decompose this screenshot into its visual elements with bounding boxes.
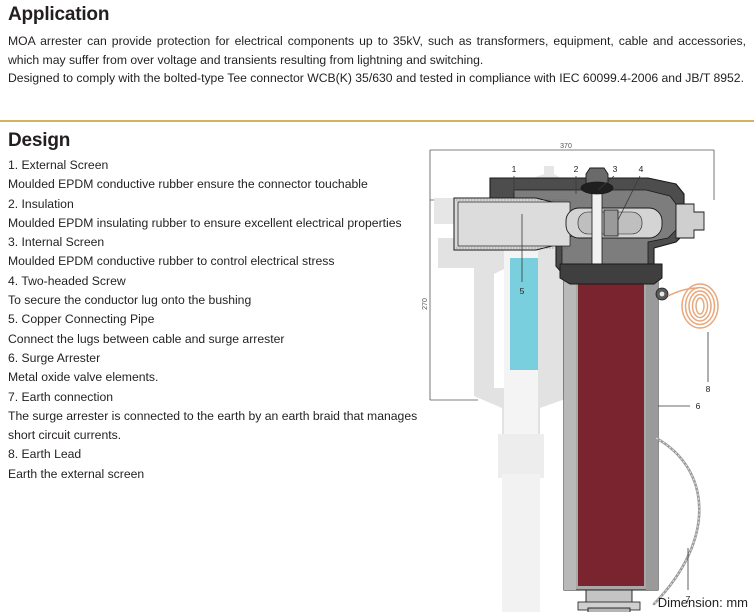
- surge-arrester-element: [578, 272, 644, 586]
- design-item-desc: The surge arrester is connected to the e…: [8, 407, 420, 446]
- dimension-width-label: 370: [560, 143, 572, 150]
- gold-rule: [0, 120, 754, 122]
- callout-5: 5: [520, 286, 525, 296]
- design-item-term: 2. Insulation: [8, 195, 420, 214]
- application-paragraph-2: Designed to comply with the bolted-type …: [8, 69, 746, 88]
- application-section: Application MOA arrester can provide pro…: [8, 4, 746, 88]
- dimension-height-label: 270: [422, 298, 429, 310]
- design-item-term: 8. Earth Lead: [8, 445, 420, 464]
- application-paragraph-1: MOA arrester can provide protection for …: [8, 32, 746, 69]
- list-item: 2. Insulation Moulded EPDM insulating ru…: [8, 195, 420, 234]
- section-divider: [0, 120, 754, 122]
- design-heading: Design: [8, 130, 420, 152]
- design-item-term: 4. Two-headed Screw: [8, 272, 420, 291]
- list-item: 8. Earth Lead Earth the external screen: [8, 445, 420, 484]
- earth-lead-coil: [682, 284, 718, 328]
- list-item: 4. Two-headed Screw To secure the conduc…: [8, 272, 420, 311]
- callout-4: 4: [639, 164, 644, 174]
- design-item-term: 6. Surge Arrester: [8, 349, 420, 368]
- callout-6: 6: [696, 401, 701, 411]
- design-item-desc: Metal oxide valve elements.: [8, 368, 420, 387]
- list-item: 3. Internal Screen Moulded EPDM conducti…: [8, 233, 420, 272]
- callout-3: 3: [613, 164, 618, 174]
- design-item-term: 1. External Screen: [8, 156, 420, 175]
- design-item-desc: To secure the conductor lug onto the bus…: [8, 291, 420, 310]
- design-item-desc: Earth the external screen: [8, 465, 420, 484]
- design-item-term: 5. Copper Connecting Pipe: [8, 310, 420, 329]
- list-item: 5. Copper Connecting Pipe Connect the lu…: [8, 310, 420, 349]
- design-item-desc: Moulded EPDM conductive rubber ensure th…: [8, 175, 420, 194]
- internal-screen-seal: [581, 182, 613, 194]
- design-list: 1. External Screen Moulded EPDM conducti…: [8, 156, 420, 484]
- cable-conductor-cyan: [510, 258, 538, 370]
- design-item-desc: Connect the lugs between cable and surge…: [8, 330, 420, 349]
- design-item-desc: Moulded EPDM conductive rubber to contro…: [8, 252, 420, 271]
- design-item-term: 3. Internal Screen: [8, 233, 420, 252]
- two-headed-screw: [592, 186, 602, 274]
- design-item-desc: Moulded EPDM insulating rubber to ensure…: [8, 214, 420, 233]
- technical-drawing: 370 270: [418, 138, 754, 612]
- callout-1: 1: [512, 164, 517, 174]
- application-heading: Application: [8, 4, 746, 26]
- design-item-term: 7. Earth connection: [8, 388, 420, 407]
- list-item: 1. External Screen Moulded EPDM conducti…: [8, 156, 420, 195]
- copper-connecting-pipe: [458, 202, 570, 246]
- arrester-cross-section-diagram: 370 270: [418, 138, 754, 612]
- earth-bolt-assembly: [578, 590, 640, 612]
- design-section: Design 1. External Screen Moulded EPDM c…: [8, 130, 420, 484]
- callout-2: 2: [574, 164, 579, 174]
- dimension-caption: Dimension: mm: [658, 595, 748, 610]
- list-item: 6. Surge Arrester Metal oxide valve elem…: [8, 349, 420, 388]
- list-item: 7. Earth connection The surge arrester i…: [8, 388, 420, 446]
- earth-braid: [654, 438, 699, 604]
- callout-8: 8: [706, 384, 711, 394]
